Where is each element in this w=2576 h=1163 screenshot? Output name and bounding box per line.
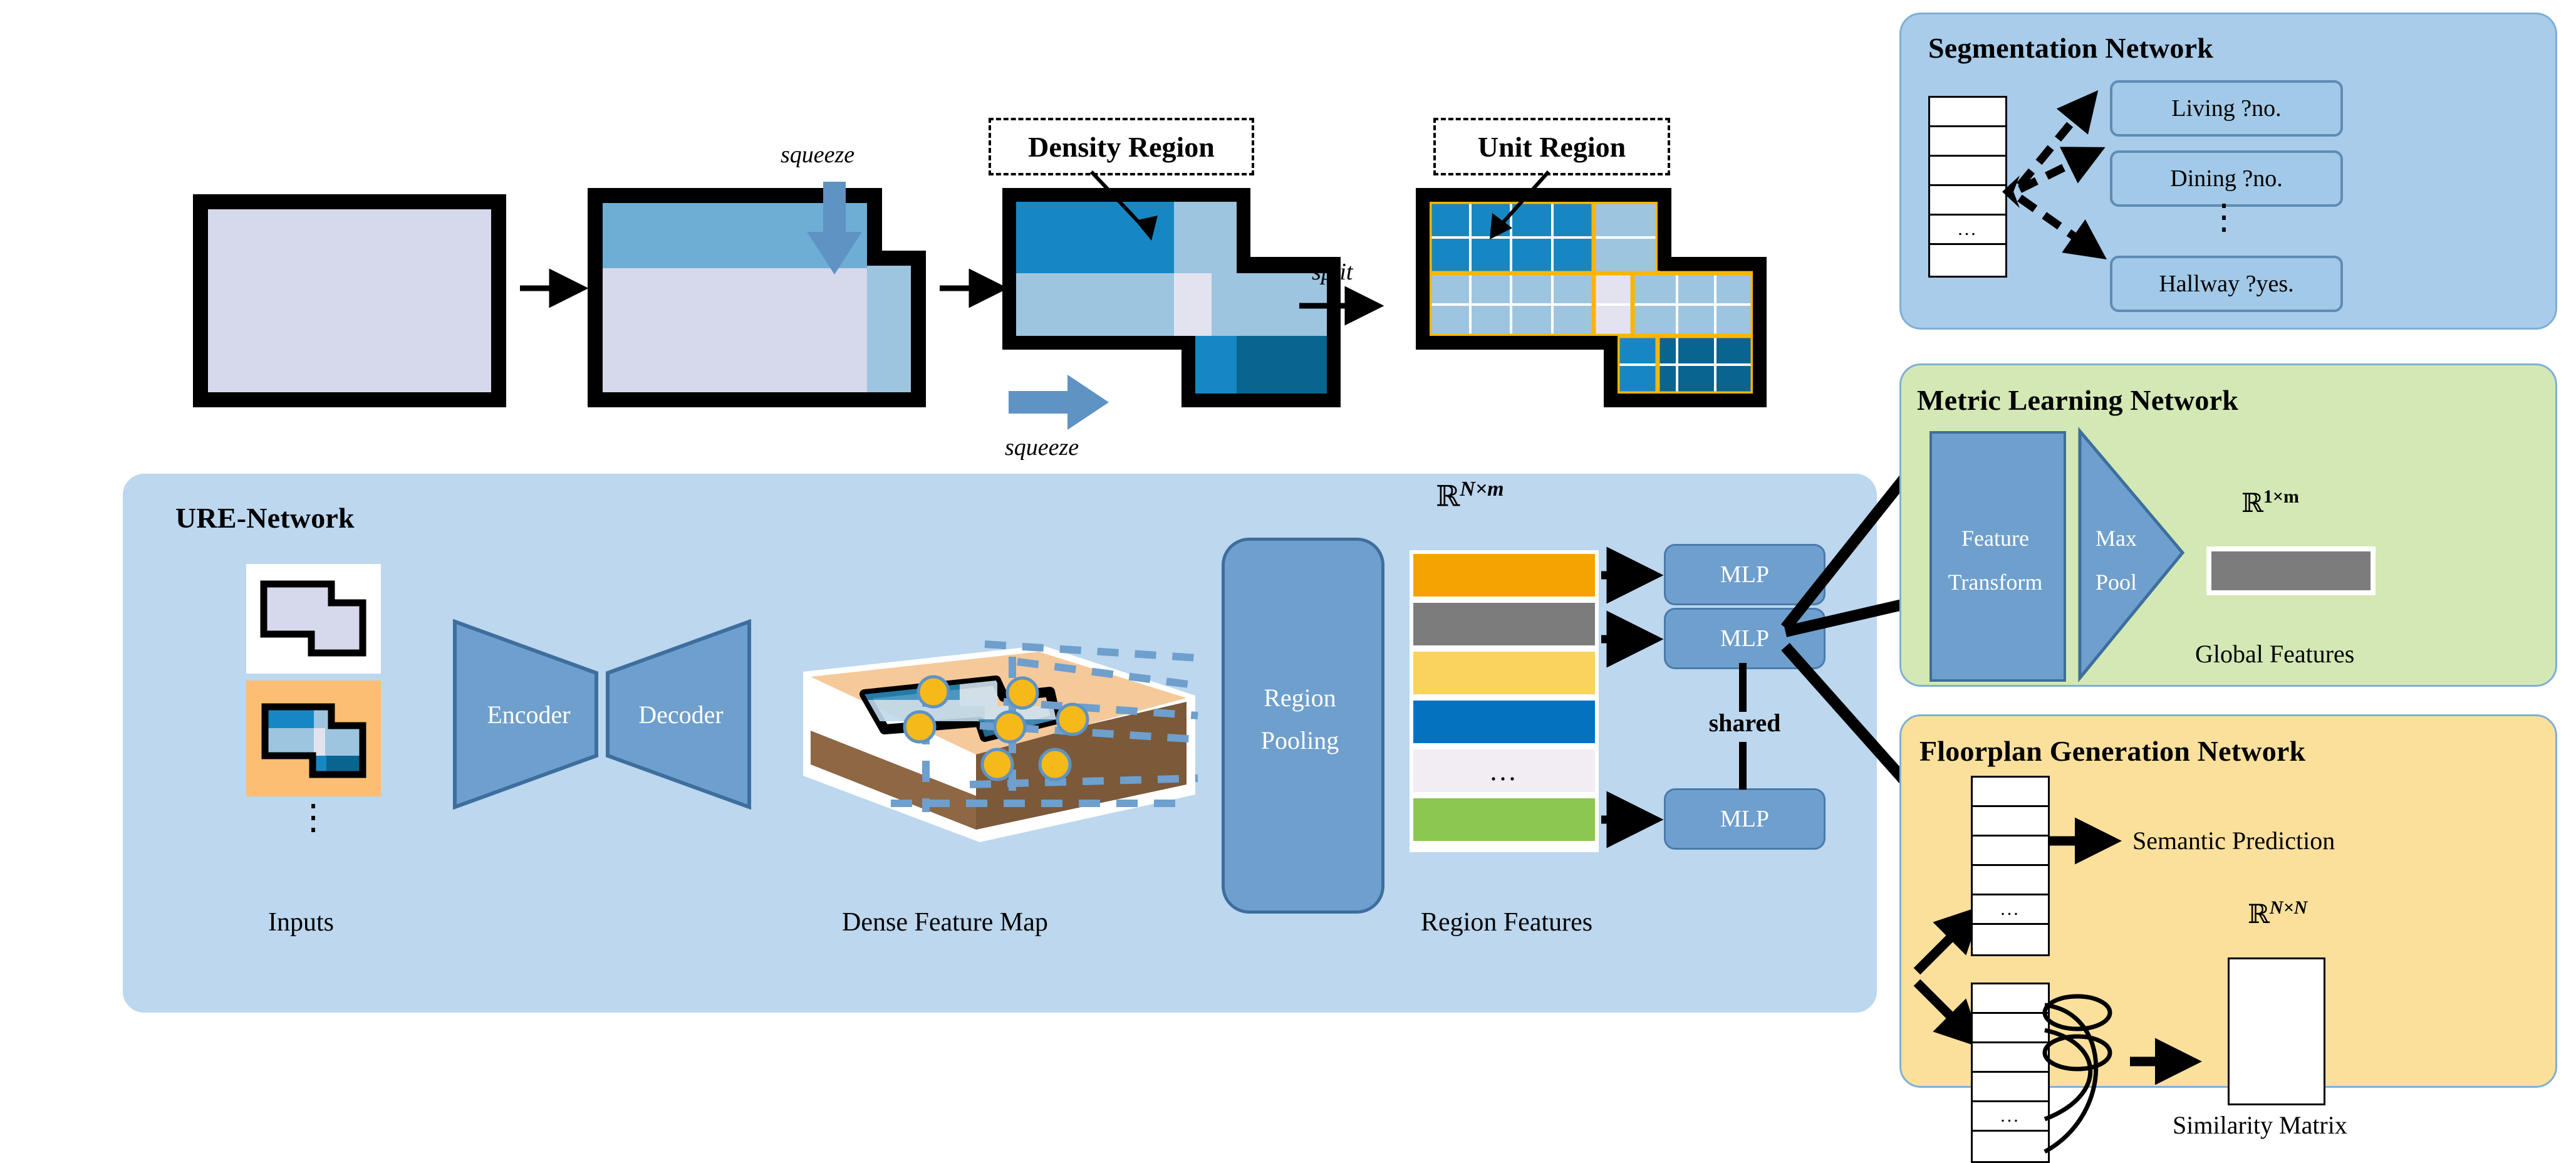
- segmentation-output-living[interactable]: Living ?no.: [2110, 80, 2343, 137]
- segmentation-cell: [1930, 98, 2005, 127]
- squeeze-horizontal-label: squeeze: [1005, 434, 1079, 461]
- unit-region-callout: Unit Region: [1433, 118, 1670, 175]
- floorplan-similarity-cell: [1973, 984, 2048, 1014]
- floorplan-similarity-cell-ellipsis: ...: [1973, 1102, 2048, 1132]
- global-feature-vector: [2211, 551, 2371, 590]
- segmentation-cell: [1930, 127, 2005, 157]
- metric-dims-R-symbol: ℝ: [2241, 489, 2263, 518]
- arrow-feature-to-mlp-3: [1601, 807, 1670, 832]
- pipeline-step-boundary-input: [193, 194, 506, 407]
- arrow-feature-to-mlp-1: [1601, 563, 1670, 588]
- density-region-pointer: [1090, 170, 1171, 252]
- pipeline-step-unit-region: [1416, 188, 1767, 407]
- feature-bar-ellipsis: ...: [1413, 749, 1595, 792]
- input-thumbnail-density: [246, 681, 381, 796]
- similarity-matrix-box: [2228, 957, 2325, 1105]
- semantic-prediction-label: Semantic Prediction: [2132, 826, 2335, 855]
- floorplan-similarity-cell: [1973, 1073, 2048, 1102]
- encoder-label: Encoder: [466, 700, 591, 729]
- region-pooling-label-line1: Region: [1222, 683, 1378, 712]
- floorplan-semantic-cell: [1973, 837, 2048, 866]
- segmentation-cell: [1930, 245, 2005, 274]
- segmentation-output-hallway-label: Hallway ?yes.: [2159, 270, 2293, 298]
- floorplan-similarity-cell: [1973, 1132, 2048, 1161]
- metric-dims-superscript: 1×m: [2263, 486, 2299, 507]
- feature-ellipsis-text: ...: [1490, 755, 1519, 787]
- density-region-callout: Density Region: [989, 118, 1254, 175]
- arrow-step1-step2: [520, 276, 595, 301]
- unit-region-label: Unit Region: [1478, 130, 1626, 164]
- metric-dims-label: ℝ1×m: [2241, 486, 2299, 519]
- floorplan-similarity-column: ...: [1971, 983, 2050, 1163]
- region-features-dims: ℝN×m: [1436, 477, 1504, 513]
- floorplan-similarity-cell: [1973, 1014, 2048, 1043]
- squeeze-right-arrow-icon: [1009, 375, 1109, 431]
- max-pool-label-line1: Max: [2079, 525, 2154, 551]
- similarity-loop-curves-icon: [2041, 990, 2122, 1158]
- mlp-label-1: MLP: [1720, 561, 1769, 588]
- inputs-vertical-ellipsis: ⋮: [288, 808, 338, 828]
- plan-interior-fill: [208, 209, 491, 392]
- inputs-caption: Inputs: [268, 907, 334, 937]
- mlp-label-3: MLP: [1720, 805, 1769, 833]
- floorplan-semantic-cell: [1973, 778, 2048, 807]
- mlp-label-2: MLP: [1720, 625, 1769, 652]
- floorplan-generation-network-title: Floorplan Generation Network: [1919, 734, 2305, 768]
- segmentation-cell: [1930, 157, 2005, 186]
- dims-R-symbol: ℝ: [1436, 480, 1460, 512]
- density-region-label: Density Region: [1028, 130, 1215, 164]
- similarity-matrix-label: Similarity Matrix: [2173, 1110, 2347, 1140]
- floorplan-semantic-cell-ellipsis: ...: [1973, 895, 2048, 925]
- split-label: split: [1312, 258, 1353, 286]
- unit-region-pointer: [1478, 170, 1560, 252]
- dense-feature-map-caption: Dense Feature Map: [842, 907, 1048, 937]
- feature-bar-blue: [1413, 701, 1595, 743]
- feature-bar-orange: [1413, 554, 1595, 597]
- floorplan-dims-R-symbol: ℝ: [2248, 900, 2270, 929]
- floorplan-semantic-cell: [1973, 925, 2048, 954]
- metric-learning-network-title: Metric Learning Network: [1917, 383, 2238, 417]
- floorplan-semantic-column: ...: [1971, 776, 2050, 956]
- feature-bar-yellow: [1413, 652, 1595, 694]
- feature-transform-label-line1: Feature: [1929, 525, 2061, 551]
- max-pool-shape: [2079, 430, 2184, 679]
- feature-bar-gray: [1413, 603, 1595, 645]
- squeeze-down-arrow-icon: [807, 182, 863, 276]
- segmentation-output-hallway[interactable]: Hallway ?yes.: [2110, 256, 2343, 312]
- decoder-label: Decoder: [615, 700, 747, 729]
- region-features-caption: Region Features: [1421, 907, 1592, 937]
- arrow-to-semantic-prediction: [2050, 827, 2131, 855]
- segmentation-output-dining-label: Dining ?no.: [2170, 165, 2282, 192]
- ure-network-title: URE-Network: [175, 501, 355, 535]
- floorplan-semantic-cell: [1973, 807, 2048, 837]
- segmentation-feature-column: ...: [1928, 96, 2007, 278]
- segmentation-cell: [1930, 186, 2005, 216]
- arrow-feature-to-mlp-2: [1601, 627, 1670, 652]
- max-pool-label-line2: Pool: [2079, 569, 2154, 595]
- feature-transform-block: [1929, 431, 2066, 682]
- floorplan-semantic-cell: [1973, 866, 2048, 895]
- dense-feature-map-slab: [797, 597, 1198, 922]
- pipeline-step-density-coarse: [588, 188, 926, 407]
- feature-transform-label-line2: Transform: [1929, 569, 2061, 595]
- input-thumbnail-boundary: [246, 564, 381, 674]
- segmentation-output-living-label: Living ?no.: [2171, 95, 2281, 122]
- region-pooling-label-line2: Pooling: [1222, 726, 1378, 755]
- arrow-split: [1299, 293, 1393, 318]
- squeeze-vertical-label: squeeze: [781, 141, 854, 169]
- arrow-to-similarity-matrix: [2130, 1048, 2211, 1075]
- global-features-caption: Global Features: [2195, 639, 2354, 669]
- feature-bar-green: [1413, 798, 1595, 841]
- segmentation-network-title: Segmentation Network: [1928, 31, 2213, 65]
- floorplan-dims-label: ℝN×N: [2248, 897, 2307, 930]
- segmentation-vertical-ellipsis: ⋮: [2199, 208, 2249, 227]
- dims-superscript: N×m: [1460, 477, 1504, 501]
- floorplan-dims-superscript: N×N: [2270, 897, 2307, 918]
- segmentation-cell-ellipsis: ...: [1930, 216, 2005, 245]
- floorplan-similarity-cell: [1973, 1043, 2048, 1073]
